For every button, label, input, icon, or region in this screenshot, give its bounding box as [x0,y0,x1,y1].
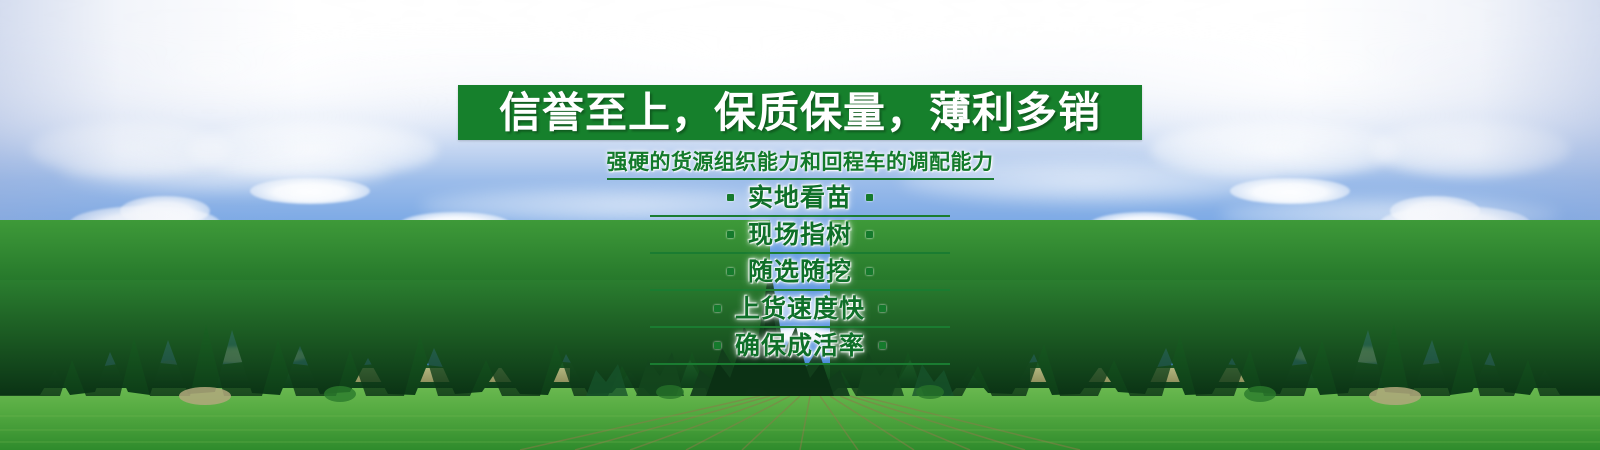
bullet-dot-icon [714,342,721,349]
feature-item: 现场指树 [650,217,950,254]
feature-item: 上货速度快 [650,291,950,328]
headline-text: 信誉至上，保质保量，薄利多销 [499,92,1101,134]
feature-item: 随选随挖 [650,254,950,291]
feature-label: 现场指树 [748,222,852,247]
bullet-dot-icon [714,305,721,312]
bullet-dot-icon [727,268,734,275]
subtitle: 强硬的货源组织能力和回程车的调配能力 [0,146,1600,180]
promo-banner: 信誉至上，保质保量，薄利多销 强硬的货源组织能力和回程车的调配能力 实地看苗 现… [0,0,1600,450]
headline-bar: 信誉至上，保质保量，薄利多销 [458,85,1142,140]
subtitle-text: 强硬的货源组织能力和回程车的调配能力 [607,146,994,180]
feature-label: 确保成活率 [735,333,865,358]
bullet-dot-icon [727,194,734,201]
bullet-dot-icon [866,231,873,238]
feature-label: 上货速度快 [735,296,865,321]
bullet-dot-icon [879,342,886,349]
feature-label: 实地看苗 [748,185,852,210]
bullet-dot-icon [866,194,873,201]
feature-label: 随选随挖 [748,259,852,284]
feature-item: 确保成活率 [650,328,950,365]
feature-list: 实地看苗 现场指树 随选随挖 上货速度快 确保成活率 [0,180,1600,365]
bullet-dot-icon [879,305,886,312]
bullet-dot-icon [727,231,734,238]
bullet-dot-icon [866,268,873,275]
feature-item: 实地看苗 [650,180,950,217]
